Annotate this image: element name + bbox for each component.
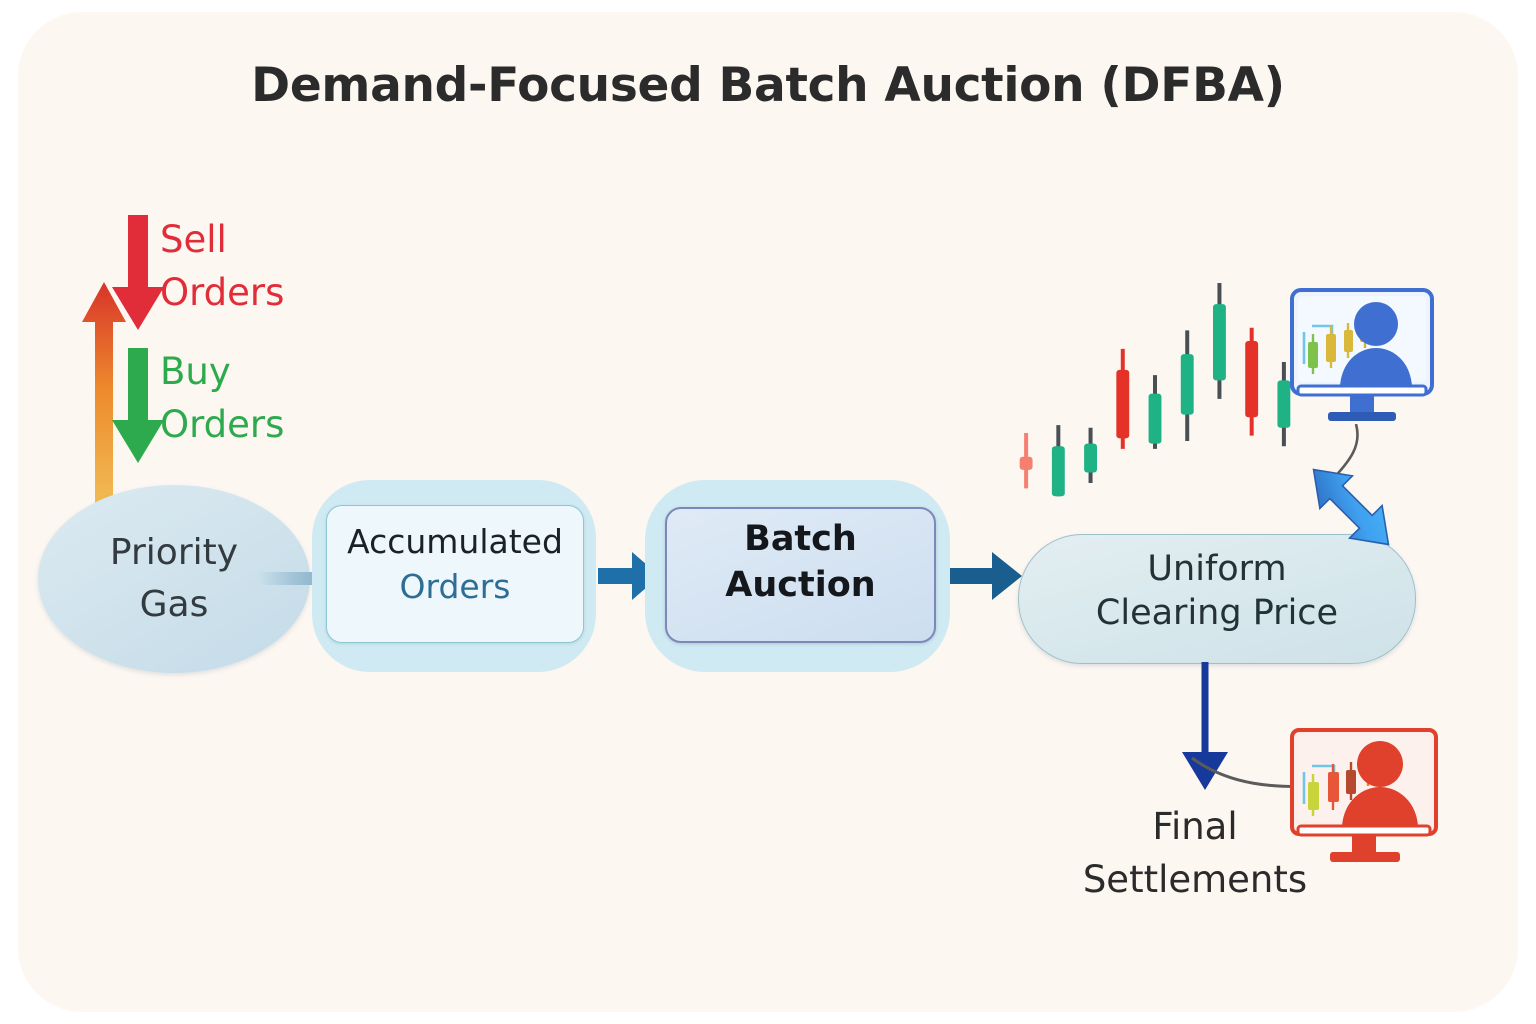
final-settlements-line1: Final xyxy=(1040,800,1350,853)
page-title: Demand-Focused Batch Auction (DFBA) xyxy=(0,58,1536,113)
batch-auction-line2: Auction xyxy=(667,565,934,605)
sell-arrow-down-icon xyxy=(112,215,164,330)
diagram-canvas: Demand-Focused Batch Auction (DFBA) Sell… xyxy=(0,0,1536,1024)
clearing-price-line2: Clearing Price xyxy=(1019,593,1415,633)
candlestick-chart xyxy=(1010,262,1300,512)
node-accumulated-orders[interactable]: Accumulated Orders xyxy=(326,505,584,643)
accumulated-orders-line1: Accumulated xyxy=(327,522,583,561)
price-trader-double-arrow-icon xyxy=(1296,452,1406,562)
priority-gas-line2: Gas xyxy=(140,579,209,631)
node-batch-auction[interactable]: Batch Auction xyxy=(665,507,936,643)
buy-orders-line2: Orders xyxy=(160,398,380,451)
buy-orders-label: Buy Orders xyxy=(160,345,380,451)
sell-orders-line1: Sell xyxy=(160,213,380,266)
priority-gas-line1: Priority xyxy=(110,527,238,579)
arrow-auction-to-price-icon xyxy=(950,552,1022,600)
batch-auction-line1: Batch xyxy=(667,519,934,559)
buy-arrow-down-icon xyxy=(112,348,164,463)
buyer-monitor-person-icon xyxy=(1288,286,1436,446)
buy-orders-line1: Buy xyxy=(160,345,380,398)
sell-orders-line2: Orders xyxy=(160,266,380,319)
final-settlements-line2: Settlements xyxy=(1040,853,1350,906)
accumulated-orders-line2: Orders xyxy=(327,567,583,606)
final-settlements-label: Final Settlements xyxy=(1040,800,1350,906)
sell-orders-label: Sell Orders xyxy=(160,213,380,319)
